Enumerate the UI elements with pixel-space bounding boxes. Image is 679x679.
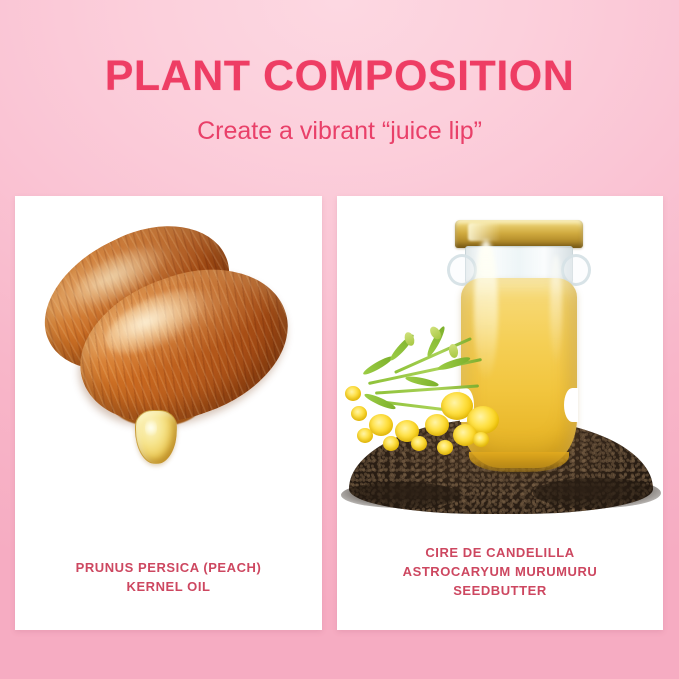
caption-line: PRUNUS PERSICA (PEACH)	[15, 558, 322, 577]
page-subtitle: Create a vibrant “juice lip”	[0, 116, 679, 146]
flower-bloom	[357, 428, 373, 443]
caption-line: CIRE DE CANDELILLA	[337, 543, 663, 562]
flower-bloom	[345, 386, 361, 401]
flower-bloom	[437, 440, 453, 455]
seed-spill-left	[341, 482, 461, 508]
caption-line: KERNEL OIL	[15, 577, 322, 596]
caption-line: ASTROCARYUM MURUMURU	[337, 562, 663, 581]
seed-spill-right	[533, 478, 661, 508]
almond-illustration	[15, 196, 322, 544]
card-caption: CIRE DE CANDELILLA ASTROCARYUM MURUMURU …	[337, 543, 663, 600]
jar-lid-shine	[468, 223, 501, 240]
flower-bloom	[411, 436, 427, 451]
ingredient-card-candelilla-murumuru[interactable]: CIRE DE CANDELILLA ASTROCARYUM MURUMURU …	[337, 196, 663, 630]
flower-bloom	[425, 414, 449, 436]
ingredient-card-peach-kernel-oil[interactable]: PRUNUS PERSICA (PEACH) KERNEL OIL	[15, 196, 322, 630]
card-caption: PRUNUS PERSICA (PEACH) KERNEL OIL	[15, 558, 322, 596]
caption-line: SEEDBUTTER	[337, 581, 663, 600]
plant-composition-infographic: PLANT COMPOSITION Create a vibrant “juic…	[0, 0, 679, 679]
oil-droplet-icon	[135, 410, 177, 464]
rapeseed-flowers	[345, 314, 535, 474]
flower-bloom	[351, 406, 367, 421]
oil-droplet-highlight	[145, 418, 157, 438]
flower-bloom	[473, 432, 489, 447]
jar-lid	[455, 220, 583, 248]
oil-jar-illustration	[337, 196, 663, 544]
flower-bloom	[383, 436, 399, 451]
flower-leaf	[405, 375, 440, 389]
page-title: PLANT COMPOSITION	[0, 54, 679, 98]
